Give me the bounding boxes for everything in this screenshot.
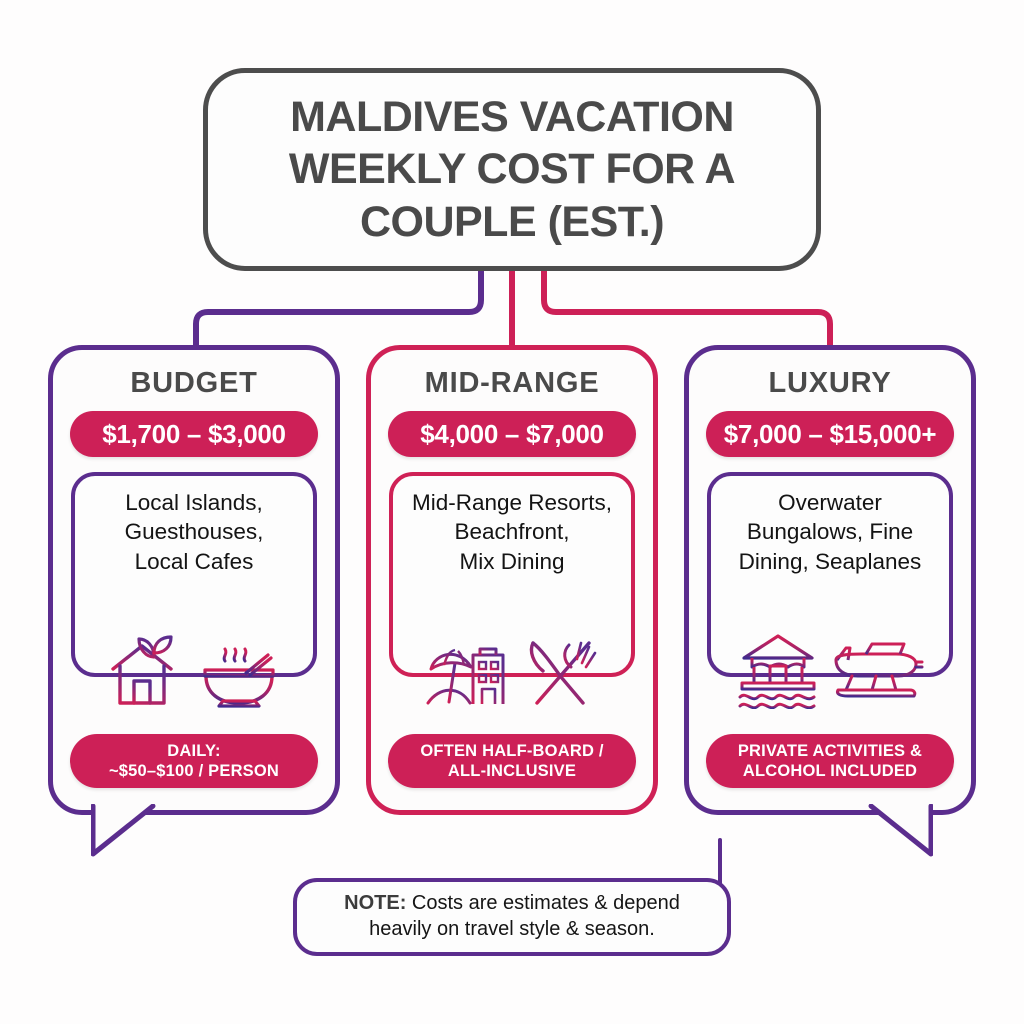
tier-icon-row-budget (75, 635, 313, 709)
card-tail-luxury (793, 804, 933, 864)
overwater-bungalow-icon (736, 633, 820, 709)
page-title: MALDIVES VACATION WEEKLY COST FOR A COUP… (208, 91, 816, 248)
tier-description-luxury: Overwater Bungalows, Fine Dining, Seapla… (733, 488, 928, 576)
tier-icon-row-mid-range (393, 639, 631, 709)
house-leaf-icon (109, 635, 187, 709)
tier-price-luxury: $7,000 – $15,000+ (706, 411, 954, 457)
knife-fork-icon (525, 639, 599, 709)
tier-title-mid-range: MID-RANGE (425, 367, 600, 400)
tier-icon-row-luxury (711, 633, 949, 709)
tier-description-box-budget: Local Islands, Guesthouses, Local Cafes (71, 472, 317, 677)
tier-description-mid-range: Mid-Range Resorts, Beachfront, Mix Dinin… (406, 488, 618, 576)
tier-card-budget[interactable]: BUDGET $1,700 – $3,000 Local Islands, Gu… (48, 345, 340, 815)
tier-note-mid-range: OFTEN HALF-BOARD / ALL-INCLUSIVE (388, 734, 636, 788)
footnote-label: NOTE: (344, 892, 406, 914)
seaplane-icon (832, 638, 924, 704)
tier-note-budget: DAILY: ~$50–$100 / PERSON (70, 734, 318, 788)
tier-card-luxury[interactable]: LUXURY $7,000 – $15,000+ Overwater Bunga… (684, 345, 976, 815)
footnote-body: Costs are estimates & depend heavily on … (369, 892, 680, 940)
page-title-box: MALDIVES VACATION WEEKLY COST FOR A COUP… (203, 68, 821, 271)
footnote-text: NOTE: Costs are estimates & depend heavi… (297, 891, 727, 942)
tier-title-budget: BUDGET (130, 367, 257, 400)
tier-description-box-mid-range: Mid-Range Resorts, Beachfront, Mix Dinin… (389, 472, 635, 677)
tier-card-mid-range[interactable]: MID-RANGE $4,000 – $7,000 Mid-Range Reso… (366, 345, 658, 815)
infographic-canvas: MALDIVES VACATION WEEKLY COST FOR A COUP… (0, 0, 1024, 1024)
footnote-box: NOTE: Costs are estimates & depend heavi… (293, 878, 731, 956)
noodle-bowl-icon (199, 635, 279, 709)
tier-title-luxury: LUXURY (769, 367, 892, 400)
tier-description-budget: Local Islands, Guesthouses, Local Cafes (119, 488, 270, 576)
tier-price-mid-range: $4,000 – $7,000 (388, 411, 636, 457)
beach-umbrella-hotel-icon (425, 639, 513, 709)
tier-note-luxury: PRIVATE ACTIVITIES & ALCOHOL INCLUDED (706, 734, 954, 788)
tier-price-budget: $1,700 – $3,000 (70, 411, 318, 457)
tier-description-box-luxury: Overwater Bungalows, Fine Dining, Seapla… (707, 472, 953, 677)
card-tail-budget (91, 804, 231, 864)
